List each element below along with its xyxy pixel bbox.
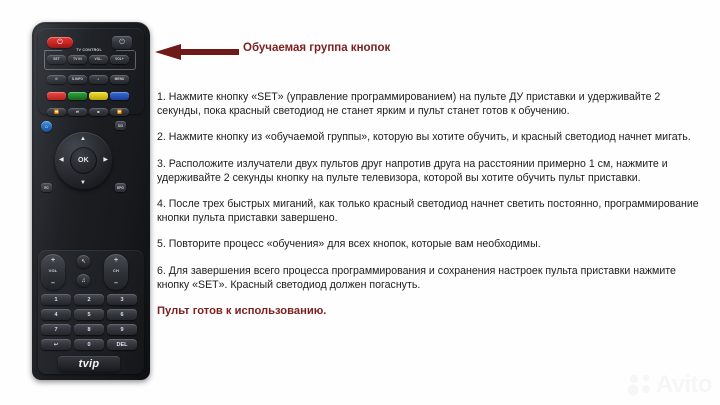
- num-button-9[interactable]: 9: [107, 324, 137, 335]
- power-icon: ⏻: [57, 39, 63, 46]
- numpad: 1 2 3 4 5 6 7 8 9 ↩ 0 DEL: [38, 294, 144, 356]
- remote-body: ⏻ ⏻ TV CONTROL SET TV IN VOL- VOL+ ⚙ S: [32, 22, 150, 380]
- channel-down-button[interactable]: –: [104, 280, 128, 287]
- instruction-step: 4. После трех быстрых миганий, как тольк…: [157, 197, 705, 225]
- num-button-8[interactable]: 8: [74, 324, 104, 335]
- tv-volume-up-button[interactable]: VOL+: [110, 55, 129, 64]
- volume-up-button[interactable]: +: [41, 257, 65, 264]
- yellow-color-button[interactable]: [89, 92, 108, 100]
- search-icon[interactable]: ⌕: [89, 75, 108, 84]
- remote-control-image: ⏻ ⏻ TV CONTROL SET TV IN VOL- VOL+ ⚙ S: [32, 22, 154, 382]
- instruction-step: 1. Нажмите кнопку «SET» (управление прог…: [157, 90, 705, 118]
- instruction-list: 1. Нажмите кнопку «SET» (управление прог…: [157, 90, 705, 318]
- callout-title: Обучаемая группа кнопок: [243, 42, 390, 54]
- dpad-left-icon[interactable]: ◀: [59, 157, 64, 163]
- num-button-6[interactable]: 6: [107, 309, 137, 320]
- left-arrow-icon: [155, 43, 239, 61]
- rewind-icon[interactable]: ⏪: [47, 108, 66, 116]
- tv-in-button[interactable]: TV IN: [68, 55, 87, 64]
- sci-button[interactable]: SCI: [115, 121, 126, 130]
- epg-button[interactable]: EPG: [115, 183, 126, 192]
- ready-message: Пульт готов к использованию.: [157, 304, 705, 318]
- fast-forward-icon[interactable]: ⏩: [110, 108, 129, 116]
- avito-watermark: Avito: [627, 373, 712, 397]
- avito-wordmark: Avito: [656, 373, 712, 397]
- avito-logo-icon: [627, 374, 653, 396]
- volume-down-button[interactable]: –: [41, 280, 65, 287]
- num-button-1[interactable]: 1: [41, 294, 71, 305]
- num-button-2[interactable]: 2: [74, 294, 104, 305]
- num-button-4[interactable]: 4: [41, 309, 71, 320]
- s-info-button[interactable]: S.INFO: [68, 75, 87, 84]
- dpad-up-icon[interactable]: ▲: [80, 136, 86, 142]
- home-icon[interactable]: ⌂: [41, 121, 52, 132]
- back-icon[interactable]: ↩: [41, 339, 71, 350]
- num-button-3[interactable]: 3: [107, 294, 137, 305]
- play-pause-icon[interactable]: ⏯: [68, 108, 87, 116]
- instruction-step: 5. Повторите процесс «обучения» для всех…: [157, 237, 705, 251]
- num-button-7[interactable]: 7: [41, 324, 71, 335]
- green-color-button[interactable]: [68, 92, 87, 100]
- blue-color-button[interactable]: [110, 92, 129, 100]
- ok-button[interactable]: OK: [70, 147, 97, 174]
- instruction-step: 3. Расположите излучатели двух пультов д…: [157, 157, 705, 185]
- volume-label: VOL: [41, 268, 65, 273]
- dpad-down-icon[interactable]: ▼: [80, 180, 86, 186]
- delete-button[interactable]: DEL: [107, 339, 137, 350]
- cursor-icon[interactable]: ↖: [77, 255, 90, 268]
- brand-logo: tvip: [58, 356, 120, 372]
- rc-button[interactable]: RC: [41, 183, 52, 192]
- remote-top-panel: ⏻ ⏻ TV CONTROL SET TV IN VOL- VOL+ ⚙ S: [38, 28, 144, 114]
- instruction-step: 6. Для завершения всего процесса програм…: [157, 264, 705, 292]
- stop-icon[interactable]: ■: [89, 108, 108, 116]
- tv-control-frame-right: [116, 50, 134, 51]
- tv-volume-down-button[interactable]: VOL-: [89, 55, 108, 64]
- power-icon: ⏻: [119, 39, 125, 46]
- tv-control-frame-left: [44, 50, 62, 51]
- channel-up-button[interactable]: +: [104, 257, 128, 264]
- channel-rocker[interactable]: + CH –: [104, 254, 128, 290]
- instruction-step: 2. Нажмите кнопку из «обучаемой группы»,…: [157, 130, 705, 144]
- dpad[interactable]: ▲ ▼ ◀ ▶ OK: [55, 132, 112, 189]
- menu-button[interactable]: MENU: [110, 75, 129, 84]
- callout: Обучаемая группа кнопок: [155, 41, 605, 65]
- red-color-button[interactable]: [47, 92, 66, 100]
- set-button[interactable]: SET: [47, 55, 66, 64]
- gear-icon[interactable]: ⚙: [47, 75, 66, 84]
- tv-control-label: TV CONTROL: [62, 46, 116, 54]
- dpad-right-icon[interactable]: ▶: [103, 157, 108, 163]
- page-root: ⏻ ⏻ TV CONTROL SET TV IN VOL- VOL+ ⚙ S: [0, 0, 720, 405]
- volume-rocker[interactable]: + VOL –: [41, 254, 65, 290]
- channel-label: CH: [104, 268, 128, 273]
- num-button-5[interactable]: 5: [74, 309, 104, 320]
- num-button-0[interactable]: 0: [74, 339, 104, 350]
- mute-icon[interactable]: ♫: [77, 274, 90, 287]
